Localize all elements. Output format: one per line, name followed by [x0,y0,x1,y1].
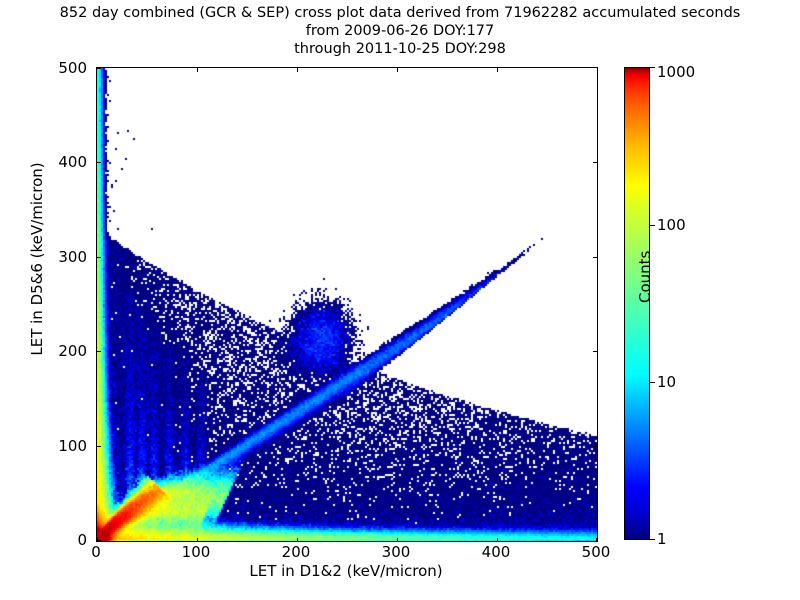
y-tick-300 [97,257,101,258]
colorbar-label-1: 1 [657,530,667,548]
x-ticklabel-500: 500 [582,543,611,561]
colorbar-label-1000: 1000 [657,63,695,81]
x-ticklabel-400: 400 [482,543,511,561]
x-tick-300 [397,538,398,542]
y-tick-100 [97,446,101,447]
x-ticklabel-300: 300 [382,543,411,561]
y-tick-right-100 [593,446,597,447]
x-tick-100 [197,538,198,542]
title-line-1: 852 day combined (GCR & SEP) cross plot … [0,4,800,22]
colorbar-title: Counts [636,251,654,303]
title-line-3: through 2011-10-25 DOY:298 [0,40,800,58]
x-ticklabel-100: 100 [182,543,211,561]
x-tick-top-300 [397,68,398,72]
y-ticklabel-500: 500 [34,59,87,77]
colorbar-tick-1 [650,539,655,540]
density-scatter-plot [97,68,597,541]
y-tick-400 [97,162,101,163]
y-tick-200 [97,351,101,352]
figure-title: 852 day combined (GCR & SEP) cross plot … [0,4,800,58]
title-line-2: from 2009-06-26 DOY:177 [0,22,800,40]
colorbar-gradient [624,67,650,540]
y-tick-right-200 [593,351,597,352]
y-ticklabel-0: 0 [34,531,87,549]
x-ticklabel-0: 0 [91,543,101,561]
y-tick-0 [97,540,101,541]
x-axis-label: LET in D1&2 (keV/micron) [96,562,596,580]
colorbar-tick-10 [650,382,655,383]
y-tick-right-400 [593,162,597,163]
colorbar [624,67,650,540]
x-tick-top-200 [297,68,298,72]
x-ticklabel-200: 200 [282,543,311,561]
cross-plot-figure: 852 day combined (GCR & SEP) cross plot … [0,0,800,600]
x-tick-200 [297,538,298,542]
colorbar-label-100: 100 [657,216,686,234]
plot-area [96,67,598,542]
y-ticklabel-100: 100 [34,437,87,455]
colorbar-tick-100 [650,225,655,226]
x-tick-top-400 [497,68,498,72]
y-axis-label: LET in D5&6 (keV/micron) [28,109,46,409]
y-tick-500 [97,68,101,69]
colorbar-label-10: 10 [657,373,676,391]
x-tick-400 [497,538,498,542]
x-tick-top-100 [197,68,198,72]
colorbar-tick-1000 [650,67,655,68]
x-tick-500 [596,538,597,542]
y-tick-right-300 [593,257,597,258]
